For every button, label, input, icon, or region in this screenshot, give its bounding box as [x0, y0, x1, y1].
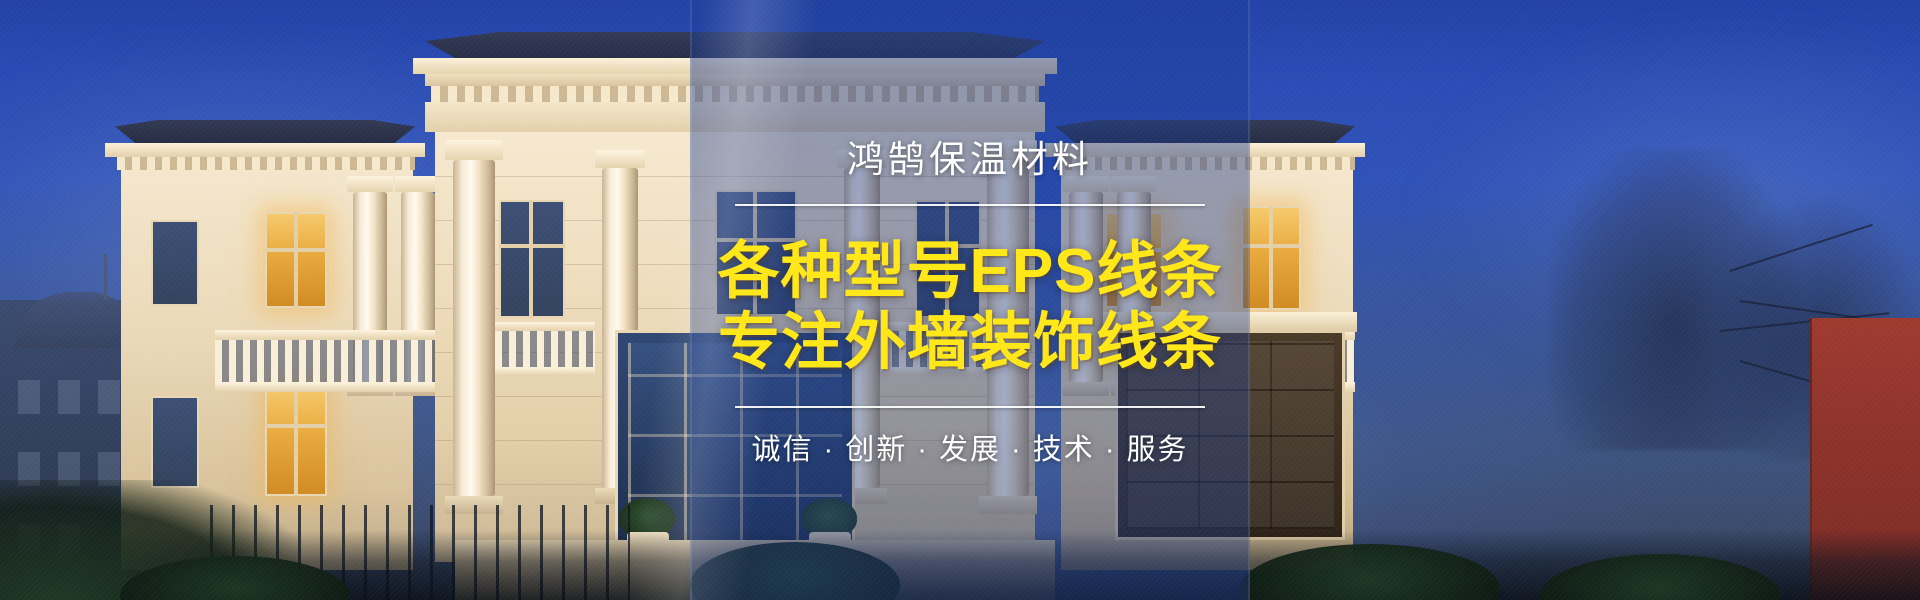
tagline: 诚信 · 创新 · 发展 · 技术 · 服务 [751, 436, 1188, 465]
window [151, 220, 199, 306]
balustrade-rail [495, 322, 595, 331]
divider-bottom [735, 406, 1205, 408]
balustrade-posts [495, 331, 595, 367]
distant-window [18, 380, 40, 414]
banner-text-block: 鸿鹄保温材料 各种型号EPS线条 专注外墙装饰线条 诚信 · 创新 · 发展 ·… [690, 0, 1250, 600]
column-capital [347, 176, 393, 192]
divider-top [735, 204, 1205, 206]
balustrade-rail [215, 330, 445, 340]
window-mullion [499, 244, 565, 248]
column [453, 160, 495, 496]
column-capital [445, 140, 503, 160]
window-mullion [1241, 244, 1301, 248]
distant-window [58, 380, 80, 414]
headline-group: 各种型号EPS线条 专注外墙装饰线条 [717, 236, 1222, 379]
balustrade-rail [215, 382, 445, 392]
left-wing-dentil [117, 157, 415, 170]
headline-line-2: 专注外墙装饰线条 [717, 307, 1222, 378]
window-mullion [265, 248, 327, 252]
window-mullion [265, 424, 327, 428]
left-wing-cornice [105, 143, 425, 157]
hero-banner: 鸿鹄保温材料 各种型号EPS线条 专注外墙装饰线条 诚信 · 创新 · 发展 ·… [0, 0, 1920, 600]
window-mullion [294, 212, 298, 308]
window [151, 396, 199, 488]
column-capital [595, 150, 645, 168]
balustrade-posts [215, 340, 445, 382]
headline-line-1: 各种型号EPS线条 [717, 236, 1222, 307]
window-mullion [1269, 206, 1273, 310]
window-mullion [529, 200, 533, 318]
balustrade-rail [495, 367, 595, 376]
brand-name: 鸿鹄保温材料 [847, 141, 1093, 178]
